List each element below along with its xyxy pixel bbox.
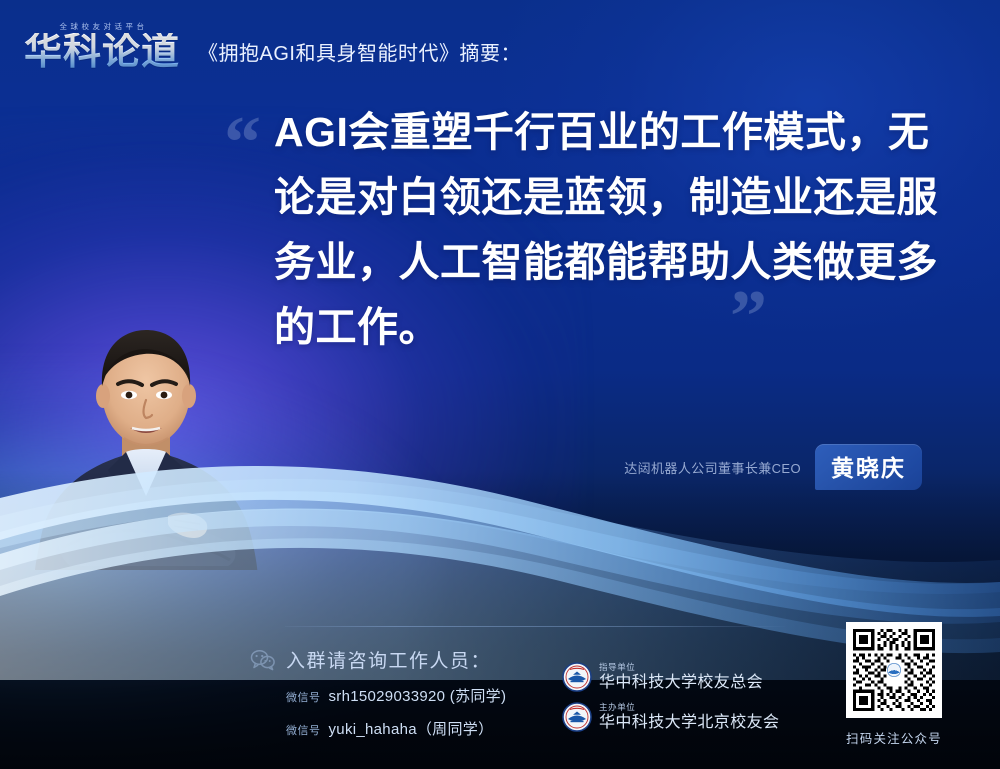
quote-open-mark: “ (224, 106, 261, 180)
organization-name: 华中科技大学校友总会 (599, 674, 763, 692)
brand-logo[interactable]: 全球校友对话平台 华科论道 (24, 21, 180, 71)
page-title: 《拥抱AGI和具身智能时代》摘要： (198, 37, 521, 66)
contact-value: srh15029033920 (苏同学) (329, 685, 507, 706)
organization-kind: 指导单位 (599, 663, 763, 672)
footer-section: 入群请咨询工作人员： 微信号 srh15029033920 (苏同学) 微信号 … (0, 594, 1000, 769)
speaker-name-badge: 黄晓庆 (815, 444, 922, 490)
logo-wordmark: 华科论道 (24, 33, 180, 71)
contact-row[interactable]: 微信号 yuki_hahaha（周同学） (286, 718, 506, 739)
contact-value: yuki_hahaha（周同学） (329, 718, 494, 739)
quote-text: AGI会重塑千行百业的工作模式，无论是对白领还是蓝领，制造业还是服务业，人工智能… (274, 100, 942, 360)
organizations: 指导单位 华中科技大学校友总会 主办单位 (562, 662, 779, 742)
wechat-icon (250, 649, 276, 671)
speaker-role: 达闼机器人公司董事长兼CEO (624, 458, 801, 477)
attribution: 达闼机器人公司董事长兼CEO 黄晓庆 (624, 444, 922, 490)
organization-name: 华中科技大学北京校友会 (599, 714, 779, 732)
contact-label: 微信号 (286, 689, 321, 705)
footer-divider (285, 626, 785, 627)
university-emblem-icon (562, 702, 592, 732)
contact-row[interactable]: 微信号 srh15029033920 (苏同学) (286, 685, 506, 706)
university-emblem-icon (562, 662, 592, 692)
organization-kind: 主办单位 (599, 703, 779, 712)
qr-section: 扫码关注公众号 (846, 622, 942, 747)
organization-texts: 指导单位 华中科技大学校友总会 (599, 663, 763, 692)
organization-texts: 主办单位 华中科技大学北京校友会 (599, 703, 779, 732)
contact-info: 入群请咨询工作人员： 微信号 srh15029033920 (苏同学) 微信号 … (250, 646, 506, 739)
qr-code-image[interactable] (846, 622, 942, 718)
contact-header: 入群请咨询工作人员： (250, 646, 506, 673)
poster-canvas: 全球校友对话平台 华科论道 《拥抱AGI和具身智能时代》摘要： “ AGI会重塑… (0, 0, 1000, 769)
header-bar: 全球校友对话平台 华科论道 《拥抱AGI和具身智能时代》摘要： (0, 0, 1000, 92)
quote-block: “ AGI会重塑千行百业的工作模式，无论是对白领还是蓝领，制造业还是服务业，人工… (222, 100, 942, 360)
qr-caption: 扫码关注公众号 (846, 728, 942, 747)
contact-label: 微信号 (286, 722, 321, 738)
contact-title: 入群请咨询工作人员： (286, 646, 491, 673)
organization-row: 指导单位 华中科技大学校友总会 (562, 662, 779, 692)
quote-close-mark: ” (730, 280, 767, 354)
logo-tagline: 全球校友对话平台 (57, 21, 148, 32)
organization-row: 主办单位 华中科技大学北京校友会 (562, 702, 779, 732)
